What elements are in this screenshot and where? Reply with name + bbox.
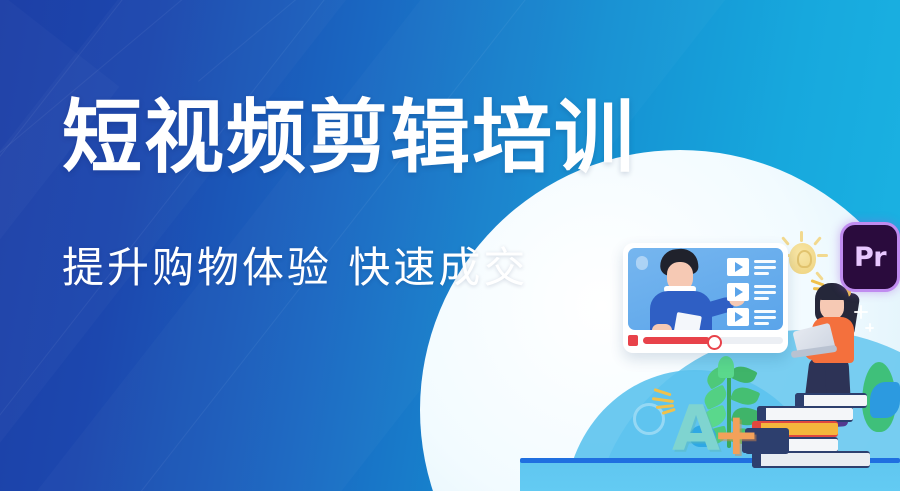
book — [757, 406, 853, 422]
student-bangs — [818, 286, 848, 300]
video-playlist[interactable] — [727, 258, 776, 326]
play-icon[interactable] — [727, 258, 749, 276]
premiere-pro-icon[interactable]: Pr — [840, 222, 900, 292]
lightbulb-filament — [797, 250, 812, 268]
playlist-item[interactable] — [727, 283, 776, 301]
playlist-item-lines — [754, 260, 776, 275]
playlist-item-lines — [754, 285, 776, 300]
progress-track[interactable] — [643, 337, 783, 344]
book-pages — [804, 395, 867, 406]
promo-banner: 短视频剪辑培训 提升购物体验 快速成交 — [0, 0, 900, 491]
text-line — [754, 322, 769, 325]
playlist-item-lines — [754, 310, 776, 325]
lightbulb-ray — [800, 231, 803, 242]
progress-handle[interactable] — [707, 335, 722, 350]
decorative-splash — [870, 382, 900, 418]
presenter-hand — [652, 324, 672, 330]
presenter-paper — [673, 312, 702, 330]
text-line — [754, 272, 769, 275]
playlist-item[interactable] — [727, 258, 776, 276]
play-icon[interactable] — [727, 308, 749, 326]
avatar — [636, 256, 648, 270]
premiere-pro-label: Pr — [854, 242, 886, 273]
text-line — [754, 316, 776, 319]
sparkle — [865, 327, 874, 329]
video-progress-bar[interactable] — [628, 332, 783, 348]
text-line — [754, 266, 776, 269]
video-player-card[interactable] — [623, 243, 788, 353]
text-line — [754, 285, 776, 288]
record-icon — [628, 335, 638, 346]
video-player-screen[interactable] — [628, 248, 783, 330]
plant-leaf-tip — [718, 356, 734, 378]
text-line — [754, 291, 776, 294]
text-line — [754, 297, 769, 300]
lightbulb-ray — [817, 254, 828, 257]
page-title: 短视频剪辑培训 — [62, 98, 636, 178]
book-pages — [766, 408, 853, 420]
play-icon[interactable] — [727, 283, 749, 301]
playlist-item[interactable] — [727, 308, 776, 326]
sparkle — [854, 311, 868, 313]
page-subtitle: 提升购物体验 快速成交 — [62, 247, 528, 289]
text-line — [754, 310, 776, 313]
book-pages — [761, 453, 870, 466]
progress-fill — [643, 337, 710, 344]
text-line — [754, 260, 776, 263]
grade-plus-sign: + — [712, 405, 761, 463]
